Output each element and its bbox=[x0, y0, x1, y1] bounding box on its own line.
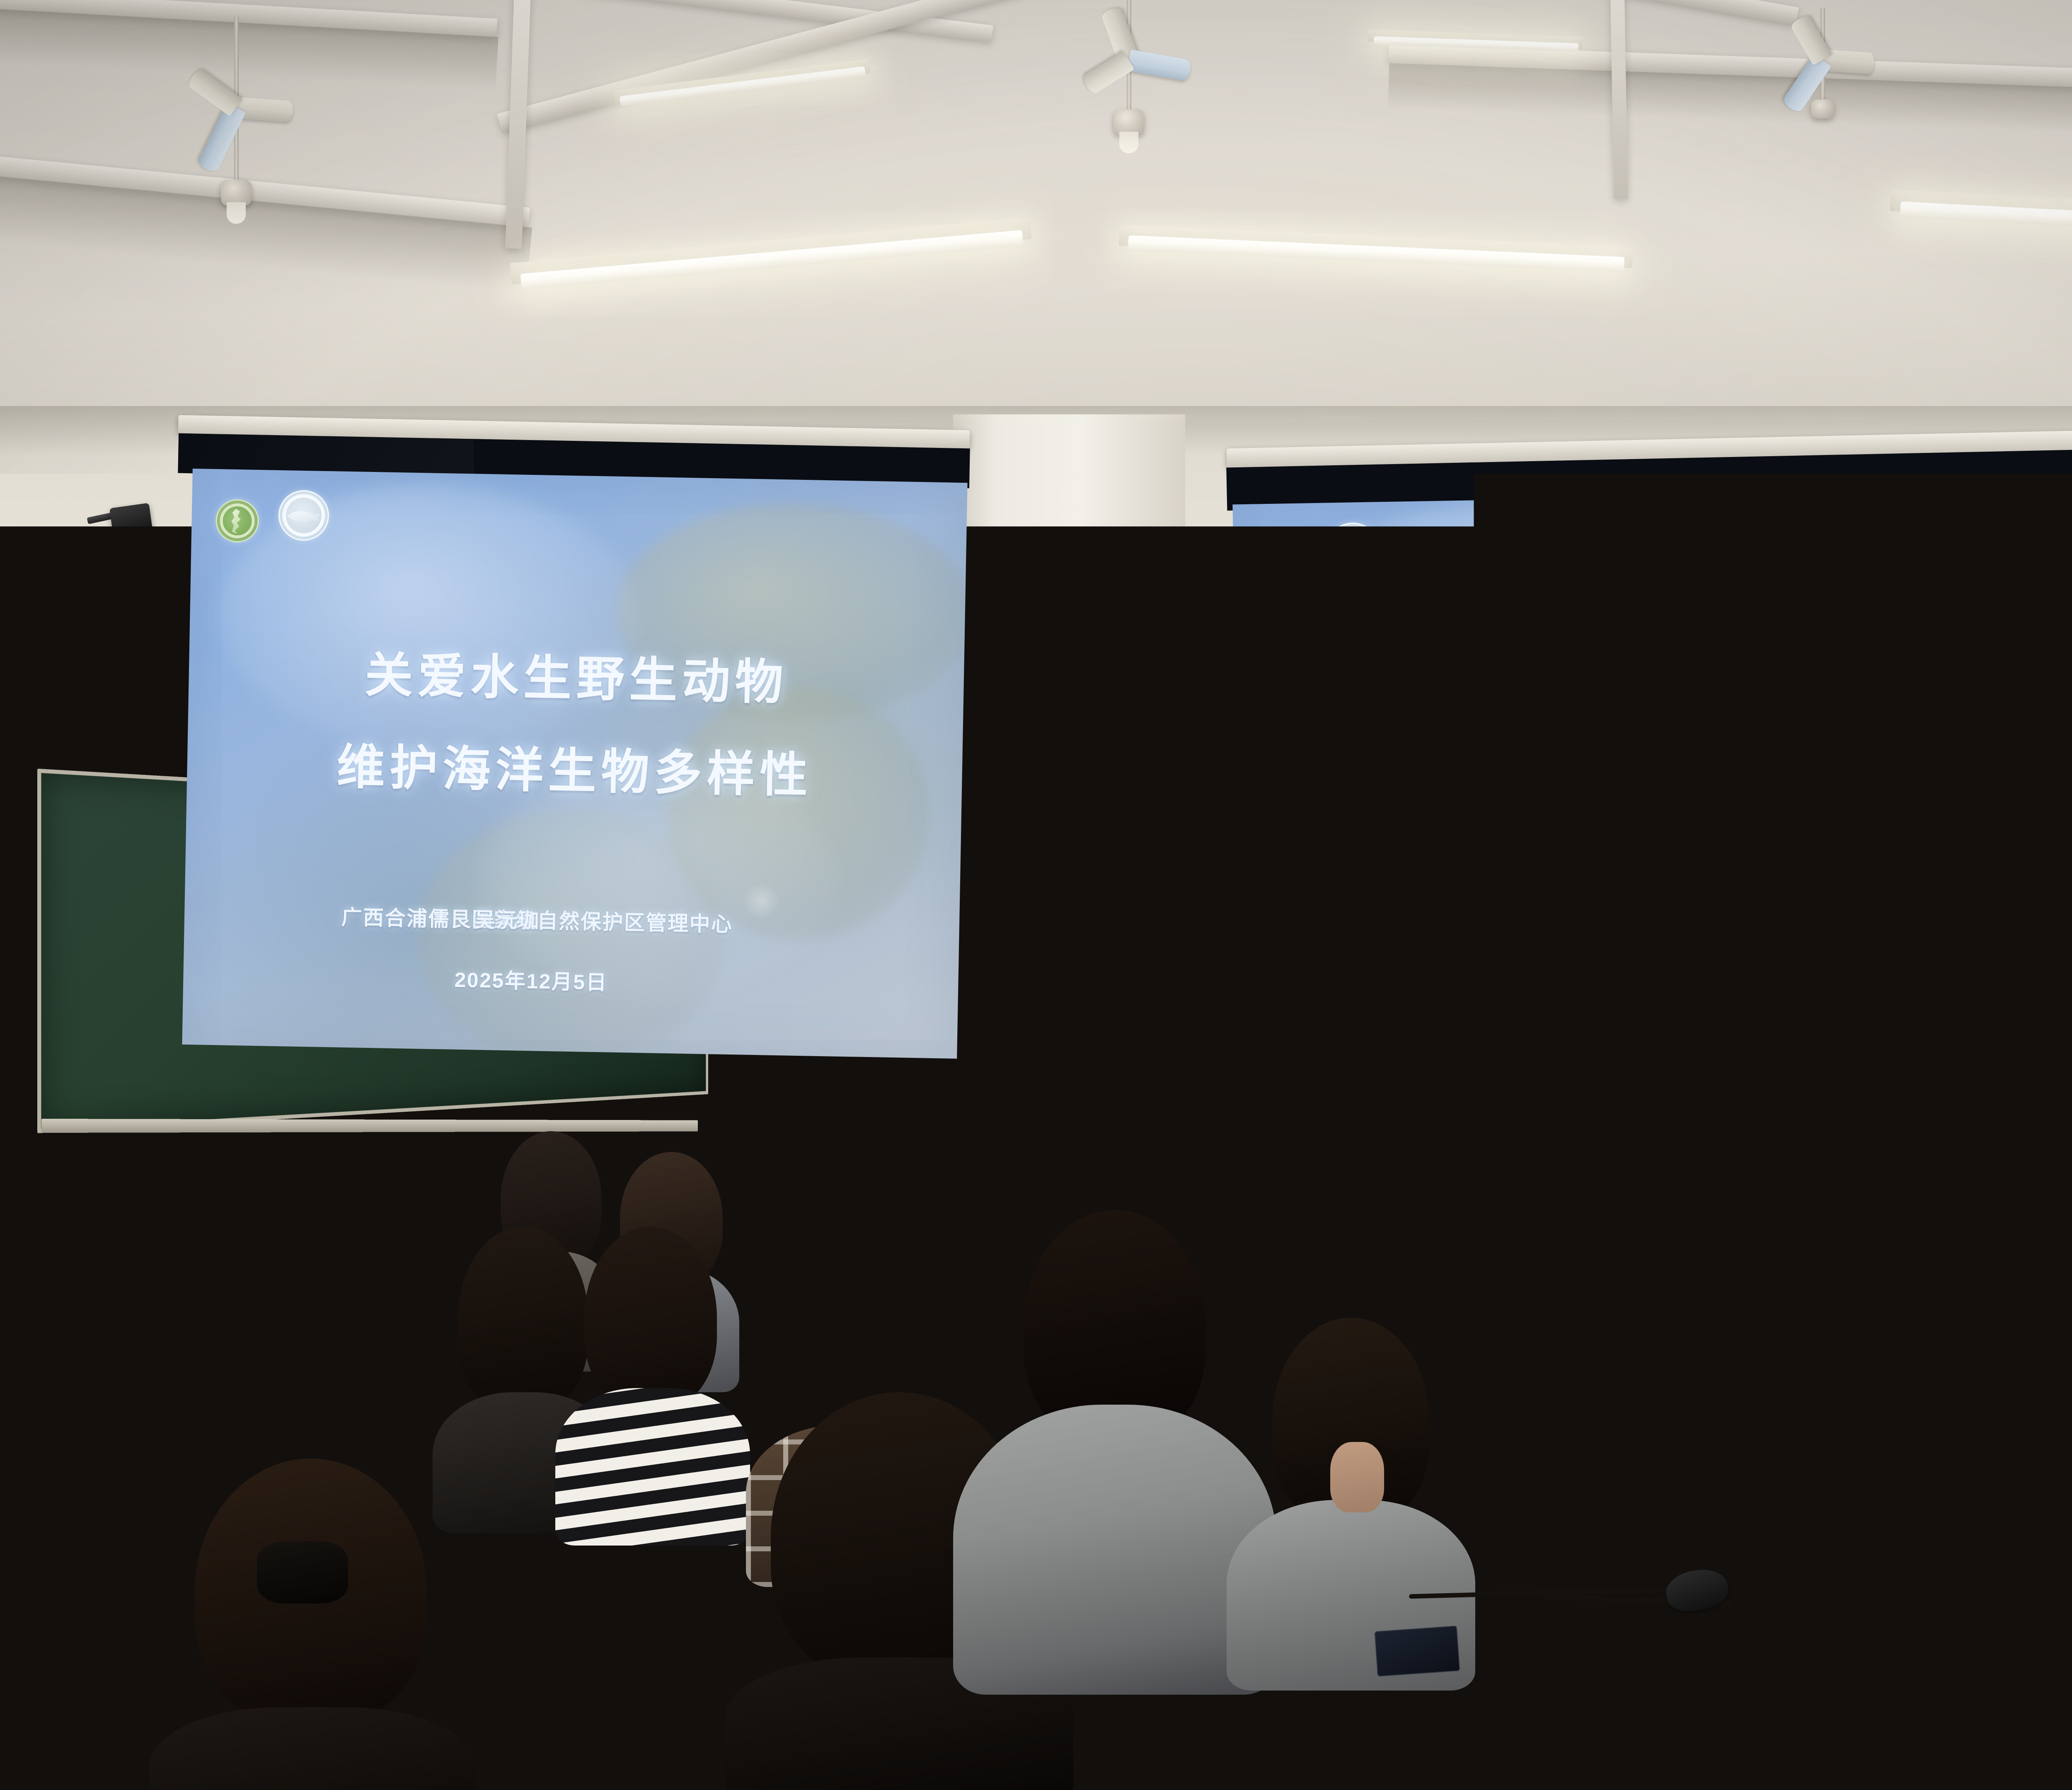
values-line-2: 自由 平等 公正 法治 bbox=[1005, 871, 1099, 878]
hair-clip bbox=[257, 1541, 348, 1604]
poster-text-line bbox=[994, 668, 1090, 670]
values-title: 社会主义 核心价值观 bbox=[1005, 847, 1099, 861]
hair bbox=[1848, 1417, 2072, 1674]
poster-header-bar: 北海艺术设计学院 bbox=[990, 574, 1111, 619]
right-screen-surface: 关爱水生野生动物 维护海洋生物多样性 广西合浦儒艮国家级自然保护区管理中心 吴沅… bbox=[1232, 486, 2072, 1068]
bottle-label bbox=[1497, 1497, 1527, 1525]
right-projection-screen: 关爱水生野生动物 维护海洋生物多样性 广西合浦儒艮国家级自然保护区管理中心 吴沅… bbox=[1227, 437, 2072, 1075]
slide-presenter: 吴沅珈 bbox=[474, 903, 540, 934]
poster-text-line bbox=[994, 660, 1105, 662]
presenter-arm bbox=[1180, 1061, 1220, 1235]
raised-hand bbox=[1330, 1442, 1384, 1512]
fan-hub bbox=[1113, 109, 1144, 135]
speaker-brand-label: HiVi bbox=[47, 571, 82, 593]
audience-member-center bbox=[961, 1210, 1268, 1691]
poster-text-line bbox=[994, 634, 1105, 636]
pc-drive-bay bbox=[1029, 1133, 1089, 1137]
presenter-glasses bbox=[1130, 966, 1158, 985]
security-camera-icon bbox=[109, 503, 152, 535]
presenter-chest-badge bbox=[1160, 1047, 1179, 1065]
classroom-photo: HiVi 关爱水生野生动物 维护海洋生物多样性 广西合浦儒艮国家级自然保护区管理… bbox=[0, 0, 2072, 1790]
poster-text-line bbox=[994, 671, 1105, 673]
screen-image-area bbox=[773, 1162, 837, 1224]
presenter-glasses bbox=[1097, 967, 1125, 986]
ceiling-fan bbox=[1125, 0, 1133, 128]
audience-member-foreground bbox=[174, 1459, 448, 1790]
chalk-rail bbox=[41, 1119, 698, 1133]
torso bbox=[1798, 1649, 2072, 1790]
hair bbox=[307, 1189, 432, 1367]
hair bbox=[1778, 1206, 1910, 1388]
bottle-cap bbox=[1493, 1476, 1530, 1495]
slide-title-line1: 关爱水生野生动物 bbox=[189, 633, 965, 716]
values-line-1: 富强 民主 文明 和谐 bbox=[1005, 863, 1099, 870]
poster-title: 机房管理制度 bbox=[994, 622, 1108, 632]
audience-member-striped bbox=[572, 1226, 729, 1541]
hair bbox=[2020, 1243, 2072, 1438]
presenter-hair bbox=[1089, 927, 1170, 962]
poster-text-line bbox=[994, 664, 1065, 666]
left-screen-surface: 关爱水生野生动物 维护海洋生物多样性 广西合浦儒艮国家级自然保护区管理中心 吴沅… bbox=[182, 469, 967, 1059]
rank-bar bbox=[1076, 1055, 1109, 1057]
poster-text-line bbox=[994, 656, 1090, 658]
values-scroll: 社会主义 核心价值观 富强 民主 文明 和谐 自由 平等 公正 法治 bbox=[1003, 845, 1101, 917]
presenter-chest-badge bbox=[1139, 1048, 1157, 1067]
fan-hub bbox=[221, 180, 252, 206]
fan-lamp bbox=[1119, 132, 1138, 153]
torso-striped bbox=[555, 1388, 750, 1546]
poster-header-text: 北海艺术设计学院 bbox=[1031, 592, 1084, 601]
blue-header-poster: 北海艺术设计学院 机房管理制度 bbox=[990, 574, 1111, 748]
ceiling-fan bbox=[232, 17, 240, 199]
green-emblem-icon bbox=[215, 499, 259, 543]
wall-speaker: HiVi bbox=[20, 532, 157, 633]
ceiling-fan bbox=[1819, 8, 1826, 112]
hair bbox=[33, 1160, 157, 1338]
poster-text-line bbox=[994, 638, 1065, 640]
tablet-device bbox=[1267, 1572, 1394, 1647]
torso bbox=[149, 1707, 477, 1790]
slide-title-line2: 维护海洋生物多样性 bbox=[186, 725, 963, 808]
green-emblem-icon bbox=[1259, 534, 1306, 581]
pc-drive-bay bbox=[963, 1136, 1019, 1140]
poster-caption: 社会主义 核心价值观 bbox=[1009, 830, 1095, 844]
flame-emblem-icon bbox=[1026, 787, 1078, 830]
audience-member bbox=[298, 1189, 439, 1479]
poster-text-line bbox=[994, 649, 1065, 651]
fan-hub bbox=[1811, 99, 1834, 119]
poster-text-line bbox=[994, 645, 1090, 647]
slide-presenter: 吴沅珈 bbox=[1969, 907, 2040, 941]
poster-text-line bbox=[994, 641, 1105, 643]
socialist-core-values-poster: 社会主义 核心价值观 社会主义 核心价值观 富强 民主 文明 和谐 自由 平等 … bbox=[995, 778, 1109, 923]
hair bbox=[584, 1226, 717, 1409]
presenter-placket bbox=[1126, 1036, 1133, 1239]
school-logo-icon bbox=[1017, 591, 1028, 602]
hair-bun bbox=[816, 1235, 887, 1284]
fan-blade bbox=[235, 97, 294, 122]
poster-body: 机房管理制度 bbox=[990, 619, 1111, 748]
presenter-glasses-bridge bbox=[1125, 974, 1130, 975]
pc-drive-bay bbox=[963, 1126, 1019, 1130]
school-logo-icon bbox=[1017, 969, 1028, 980]
hair bbox=[457, 1226, 588, 1413]
left-projection-screen: 关爱水生野生动物 维护海洋生物多样性 广西合浦儒艮国家级自然保护区管理中心 吴沅… bbox=[178, 423, 970, 1069]
rank-bar bbox=[1076, 1061, 1109, 1063]
audience-member-foreground bbox=[1815, 1417, 2072, 1790]
hair bbox=[167, 1177, 291, 1351]
fan-lamp bbox=[227, 202, 246, 224]
poster-text-line bbox=[994, 653, 1105, 655]
